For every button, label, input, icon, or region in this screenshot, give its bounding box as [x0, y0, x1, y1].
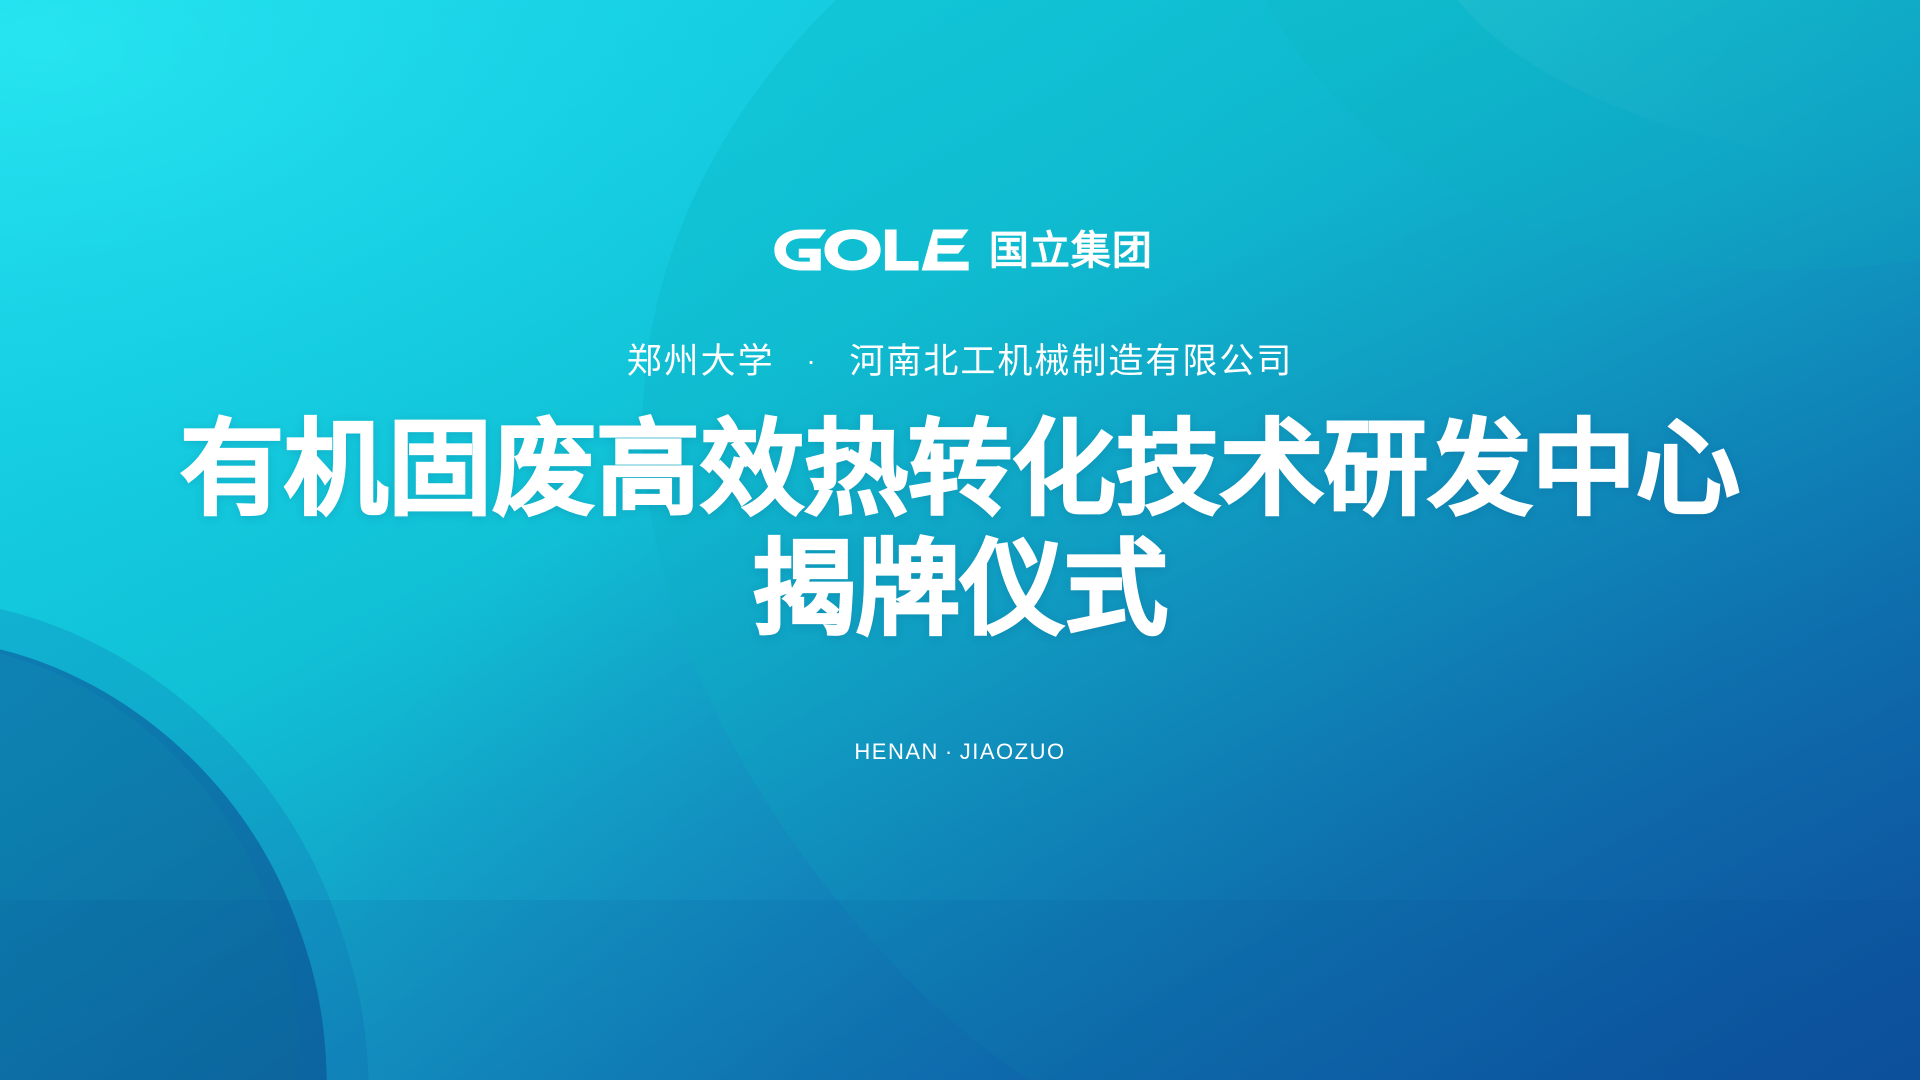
subtitle-separator: · — [786, 345, 837, 376]
footer-separator: · — [939, 739, 960, 764]
subtitle-line: 郑州大学 · 河南北工机械制造有限公司 — [627, 340, 1294, 386]
presentation-slide: 国立集团 郑州大学 · 河南北工机械制造有限公司 有机固废高效热转化技术研发中心… — [0, 0, 1920, 1080]
title-line-2: 揭牌仪式 — [180, 528, 1740, 652]
title-line-1: 有机固废高效热转化技术研发中心 — [180, 408, 1740, 532]
slide-content: 国立集团 郑州大学 · 河南北工机械制造有限公司 有机固废高效热转化技术研发中心… — [0, 0, 1920, 1080]
brand-logo: 国立集团 — [767, 224, 1153, 276]
subtitle-left: 郑州大学 — [627, 342, 775, 381]
logo-chinese-name: 国立集团 — [989, 229, 1153, 273]
gole-wordmark-icon — [767, 228, 969, 272]
footer-location: HENAN·JIAOZUO — [854, 738, 1065, 766]
footer-right: JIAOZUO — [960, 739, 1066, 764]
subtitle-right: 河南北工机械制造有限公司 — [849, 342, 1293, 381]
page-title: 有机固废高效热转化技术研发中心 揭牌仪式 — [180, 408, 1740, 652]
footer-left: HENAN — [854, 739, 939, 764]
